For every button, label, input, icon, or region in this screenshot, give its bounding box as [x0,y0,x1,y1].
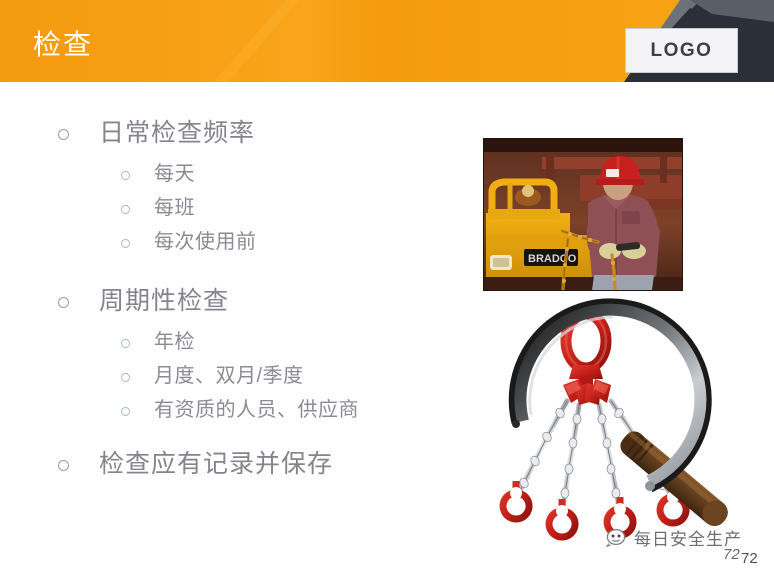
bullet-group: 检查应有记录并保存 [0,444,470,484]
worker-inspecting-chain-photo: BRADCO [483,138,683,291]
bullet-level1-label: 日常检查频率 [99,118,255,148]
bullet-level2: 每班 [0,191,470,225]
page-title: 检查 [33,28,93,62]
bullet-level1-label: 周期性检查 [99,286,229,316]
bullet-level2-label: 每次使用前 [154,229,257,255]
bullet-level1-label: 检查应有记录并保存 [99,449,333,479]
sub-bullet-marker-icon [121,205,130,214]
bullet-content: 日常检查频率 每天 每班 每次使用前 周期性 [0,89,470,587]
bullet-level2: 月度、双月/季度 [0,359,470,393]
bullet-group: 日常检查频率 每天 每班 每次使用前 [0,113,470,259]
watermark: 每日安全生产 [606,524,742,550]
bullet-marker-icon [58,129,69,140]
bullet-marker-icon [58,297,69,308]
bullet-level1: 检查应有记录并保存 [0,444,470,484]
bullet-group: 周期性检查 年检 月度、双月/季度 有资质的人员、供应商 [0,281,470,427]
sub-bullet-marker-icon [121,171,130,180]
page-number: 72 [741,550,758,567]
bullet-level2: 每天 [0,157,470,191]
slide-header: 检查 LOGO [0,0,774,89]
logo-label: LOGO [651,40,713,62]
bullet-level2-label: 每天 [154,161,195,187]
slide-canvas: 检查 LOGO 日常检查频率 每天 每班 [0,0,774,587]
sub-bullet-marker-icon [121,373,130,382]
bullet-level1: 周期性检查 [0,281,470,321]
bullet-level2-label: 有资质的人员、供应商 [154,397,359,423]
photo-illustration: BRADCO [484,139,682,290]
bullet-level2: 年检 [0,325,470,359]
svg-text:BRADCO: BRADCO [528,253,577,265]
sub-bullet-marker-icon [121,239,130,248]
sling-inspection-illustration [483,293,773,553]
bullet-level2-label: 每班 [154,195,195,221]
chat-face-icon [606,527,628,547]
bullet-level2-label: 年检 [154,329,195,355]
sub-bullet-marker-icon [121,407,130,416]
sub-bullet-marker-icon [121,339,130,348]
bullet-marker-icon [58,460,69,471]
bullet-level2: 有资质的人员、供应商 [0,393,470,427]
magnifying-glass-over-chain-sling [483,293,773,553]
bullet-level2-label: 月度、双月/季度 [154,363,304,389]
logo-placeholder[interactable]: LOGO [625,28,738,73]
bullet-level1: 日常检查频率 [0,113,470,153]
bullet-level2: 每次使用前 [0,225,470,259]
page-number-shadow: 72 [723,546,740,563]
bullet-sublist: 每天 每班 每次使用前 [0,157,470,259]
bullet-sublist: 年检 月度、双月/季度 有资质的人员、供应商 [0,325,470,427]
